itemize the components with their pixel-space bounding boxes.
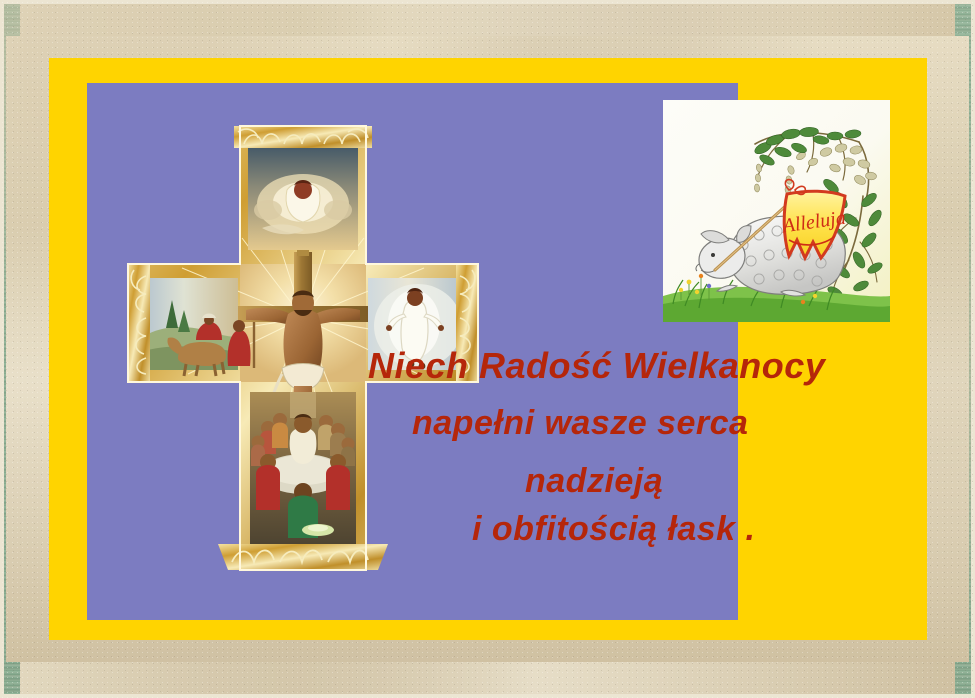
scene-risen-christ <box>368 264 478 382</box>
yellow-mat-panel: Alleluja <box>49 58 927 640</box>
cross-base-ornament <box>218 544 388 570</box>
ornamental-crucifix-image <box>122 118 484 592</box>
cross-left-ornament <box>128 264 150 382</box>
easter-card: Alleluja <box>0 0 975 698</box>
cross-right-ornament <box>456 264 478 382</box>
scene-resurrection <box>234 126 372 250</box>
easter-lamb-picture: Alleluja <box>663 100 890 322</box>
scene-flight-into-egypt <box>128 264 254 382</box>
cross-top-ornament <box>234 126 372 148</box>
